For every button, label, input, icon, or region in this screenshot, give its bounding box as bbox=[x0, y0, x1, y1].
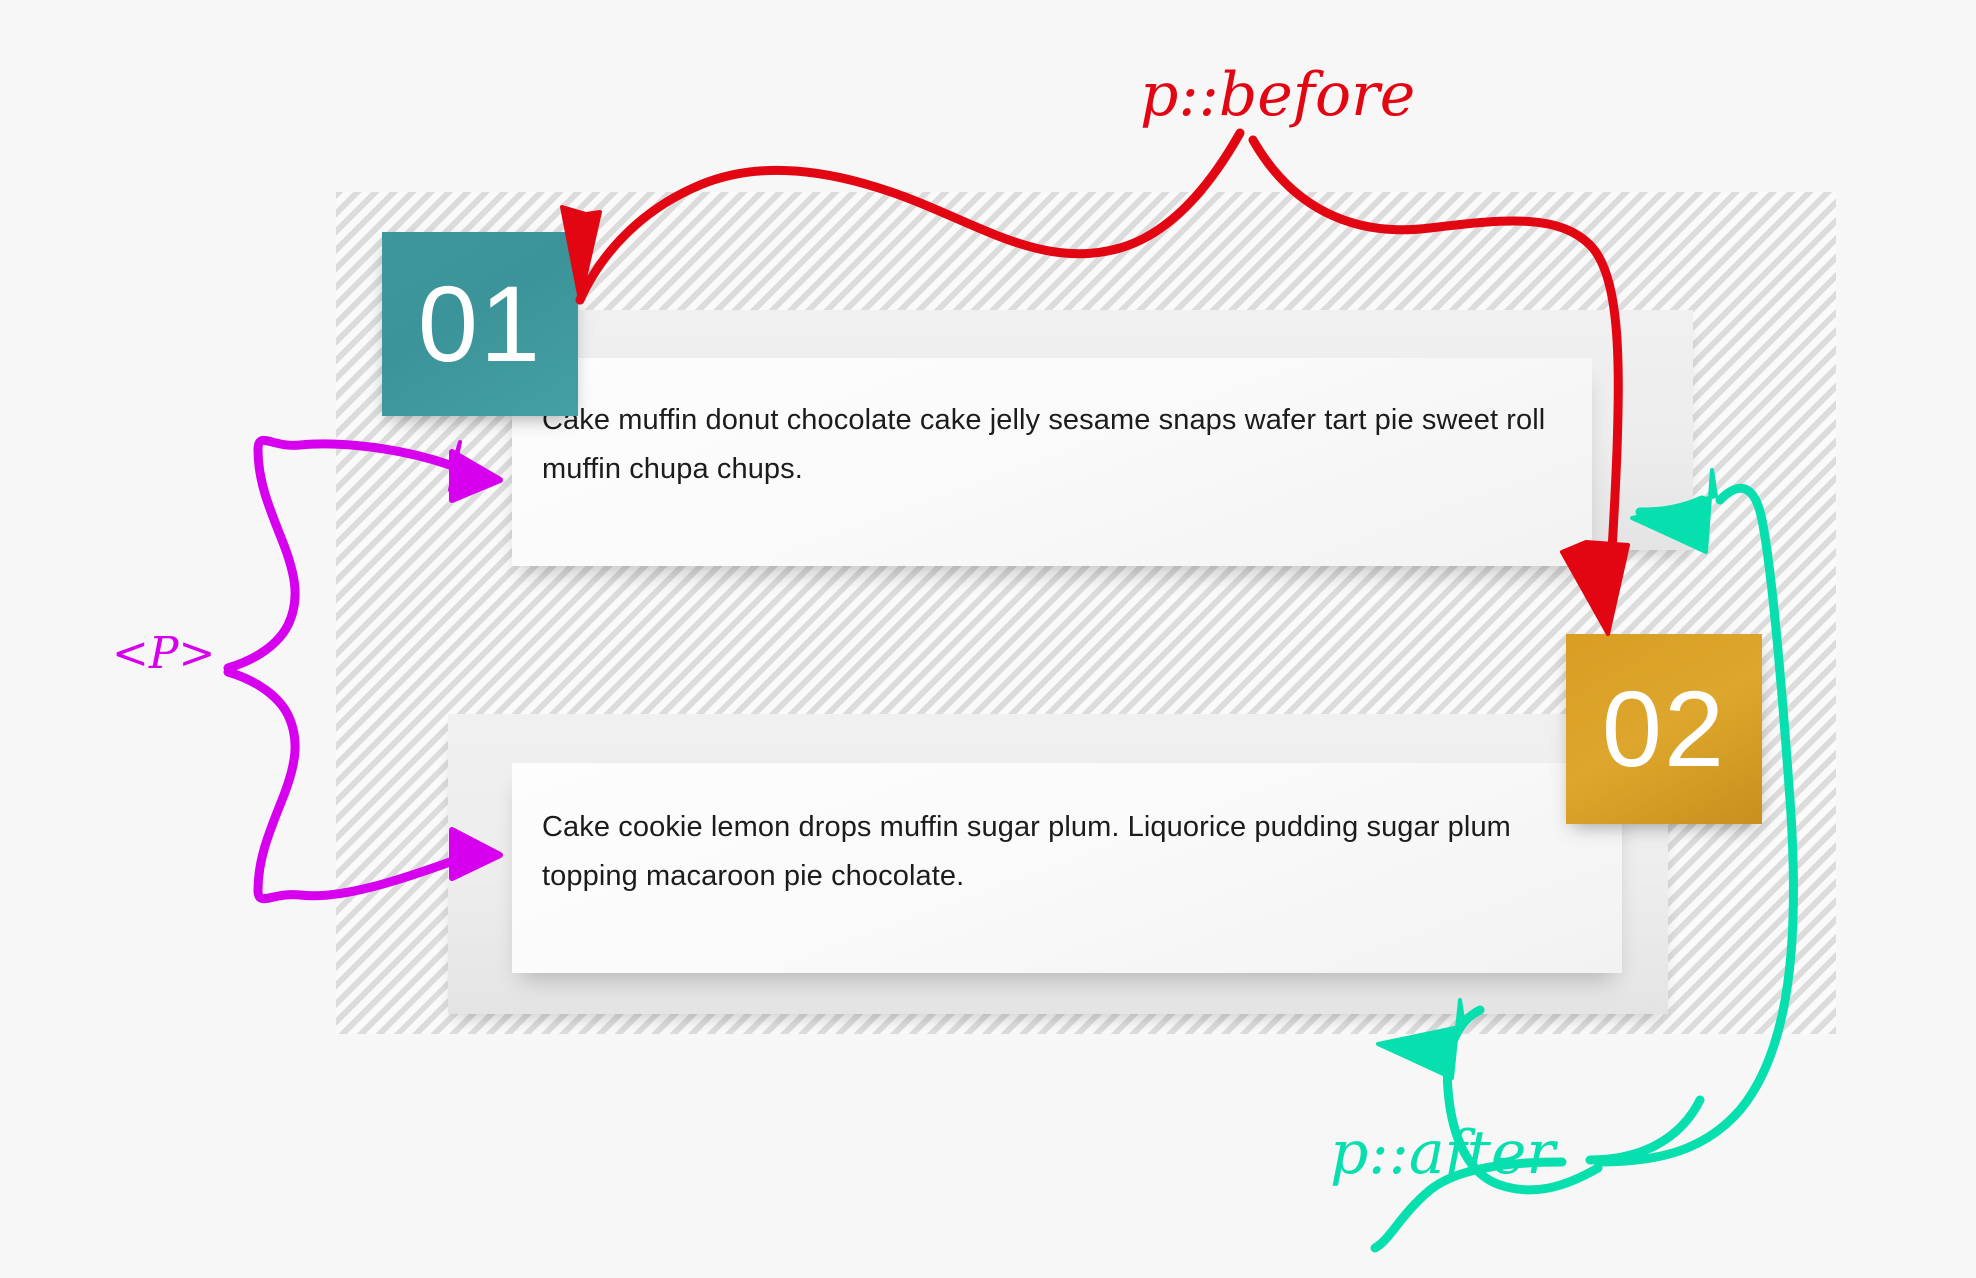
label-p-element: <P> bbox=[112, 628, 215, 679]
label-p-after: p::after bbox=[1330, 1118, 1555, 1188]
paragraph-text-1: Cake muffin donut chocolate cake jelly s… bbox=[542, 396, 1562, 494]
paragraph-card-2: Cake cookie lemon drops muffin sugar plu… bbox=[512, 763, 1622, 973]
paragraph-card-1: Cake muffin donut chocolate cake jelly s… bbox=[512, 358, 1592, 566]
number-badge-02: 02 bbox=[1566, 634, 1762, 824]
number-badge-02-label: 02 bbox=[1602, 675, 1726, 783]
label-p-before: p::before bbox=[1140, 60, 1415, 130]
number-badge-01-label: 01 bbox=[418, 270, 542, 378]
paragraph-text-2: Cake cookie lemon drops muffin sugar plu… bbox=[542, 803, 1597, 901]
number-badge-01: 01 bbox=[382, 232, 578, 416]
